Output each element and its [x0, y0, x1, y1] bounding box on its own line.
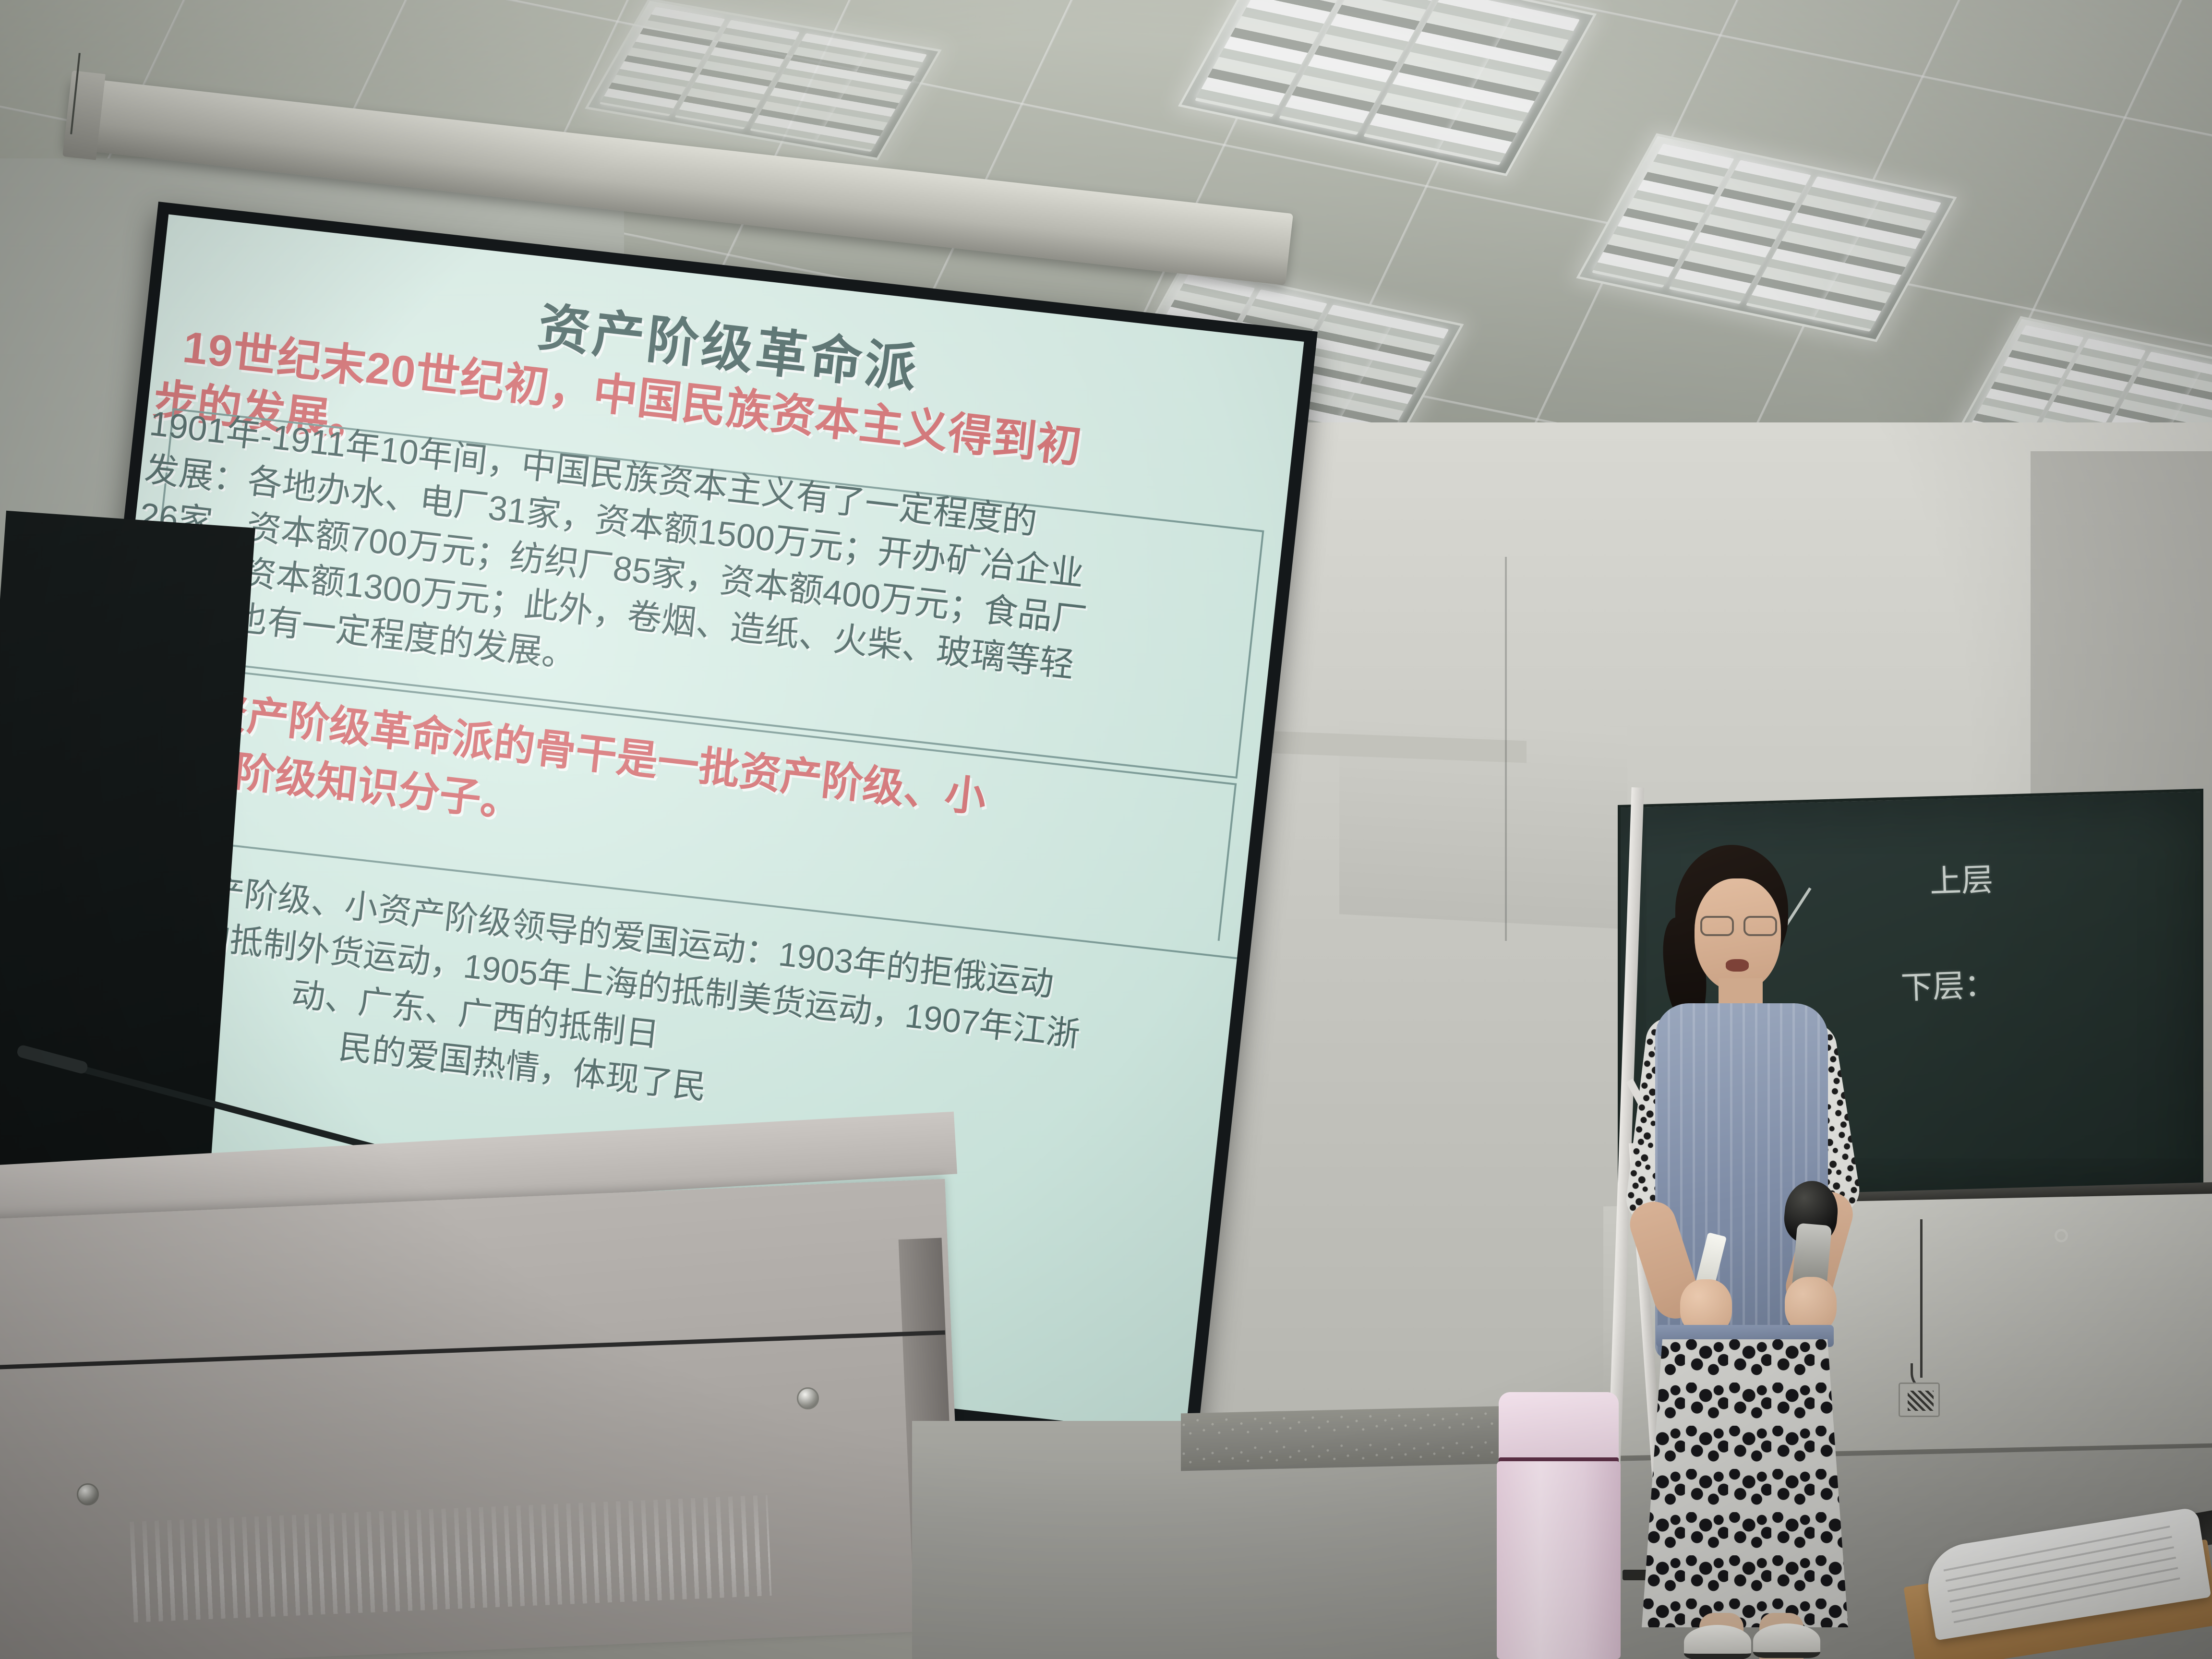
cabinet-lock[interactable] — [77, 1483, 99, 1505]
floral-skirt — [1642, 1339, 1848, 1627]
wall-cable — [1920, 1219, 1923, 1378]
shoe-left — [1684, 1625, 1751, 1659]
cabinet-lock[interactable] — [797, 1387, 819, 1409]
wall-corner-edge — [1505, 557, 1507, 941]
shoe-right — [1753, 1623, 1820, 1658]
chalk-text-line: 上层 — [1929, 863, 1994, 900]
eyeglasses-icon — [1700, 916, 1777, 932]
lecturer — [1647, 845, 1896, 1659]
thermos-body[interactable] — [1497, 1461, 1621, 1659]
classroom-photo: 资产阶级革命派 19世纪末20世纪初，中国民族资本主义得到初 步的发展。 190… — [0, 0, 2212, 1659]
thermos-lid[interactable] — [1499, 1392, 1619, 1464]
wall-hook — [2055, 1229, 2068, 1242]
mouth — [1726, 959, 1749, 972]
wall-power-outlet[interactable] — [1899, 1382, 1940, 1417]
chalk-text-line: 下层： — [1900, 968, 1996, 1006]
